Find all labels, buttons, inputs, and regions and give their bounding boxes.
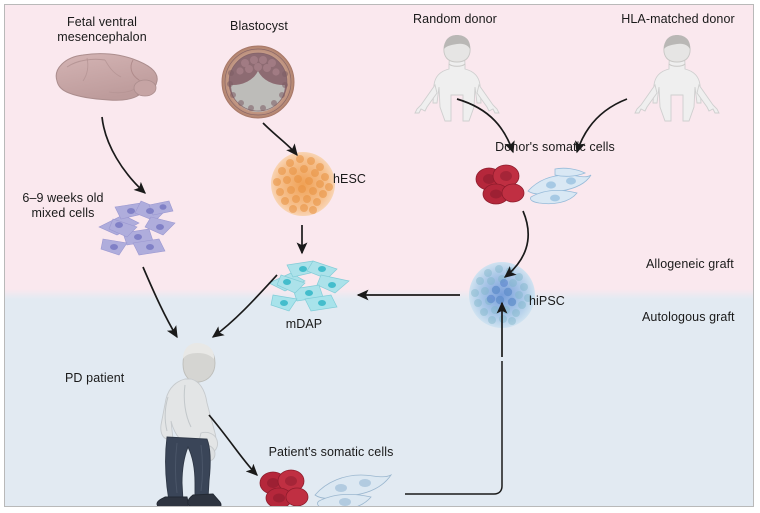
hipsc-colony-illustration (466, 259, 538, 331)
donor-somatic-cells-illustration (473, 163, 593, 213)
label-patients-somatic-cells: Patient's somatic cells (251, 445, 411, 460)
figure-frame: Fetal ventral mesencephalon Blastocyst R… (4, 4, 754, 507)
pd-patient-illustration (155, 341, 233, 507)
label-hesc: hESC (333, 172, 366, 187)
label-hla-matched-donor: HLA-matched donor (603, 12, 753, 27)
patient-somatic-cells-illustration (257, 469, 397, 507)
label-mixed-cells: 6–9 weeks old mixed cells (7, 191, 119, 221)
label-random-donor: Random donor (390, 12, 520, 27)
label-fetal-ventral-mesencephalon: Fetal ventral mesencephalon (27, 15, 177, 45)
label-allogeneic-graft: Allogeneic graft (646, 257, 734, 272)
label-mdap: mDAP (264, 317, 344, 332)
mdap-cells-illustration (263, 257, 357, 319)
label-hipsc: hiPSC (529, 294, 565, 309)
blastocyst-illustration (219, 43, 297, 121)
label-autologous-graft: Autologous graft (642, 310, 735, 325)
label-donors-somatic-cells: Donor's somatic cells (475, 140, 635, 155)
random-donor-illustration (411, 33, 503, 121)
brain-illustration (43, 47, 163, 111)
hla-matched-donor-illustration (631, 33, 723, 121)
label-pd-patient: PD patient (65, 371, 124, 386)
hesc-colony-illustration (268, 149, 338, 219)
region-gradient-divider (5, 289, 753, 299)
label-blastocyst: Blastocyst (199, 19, 319, 34)
